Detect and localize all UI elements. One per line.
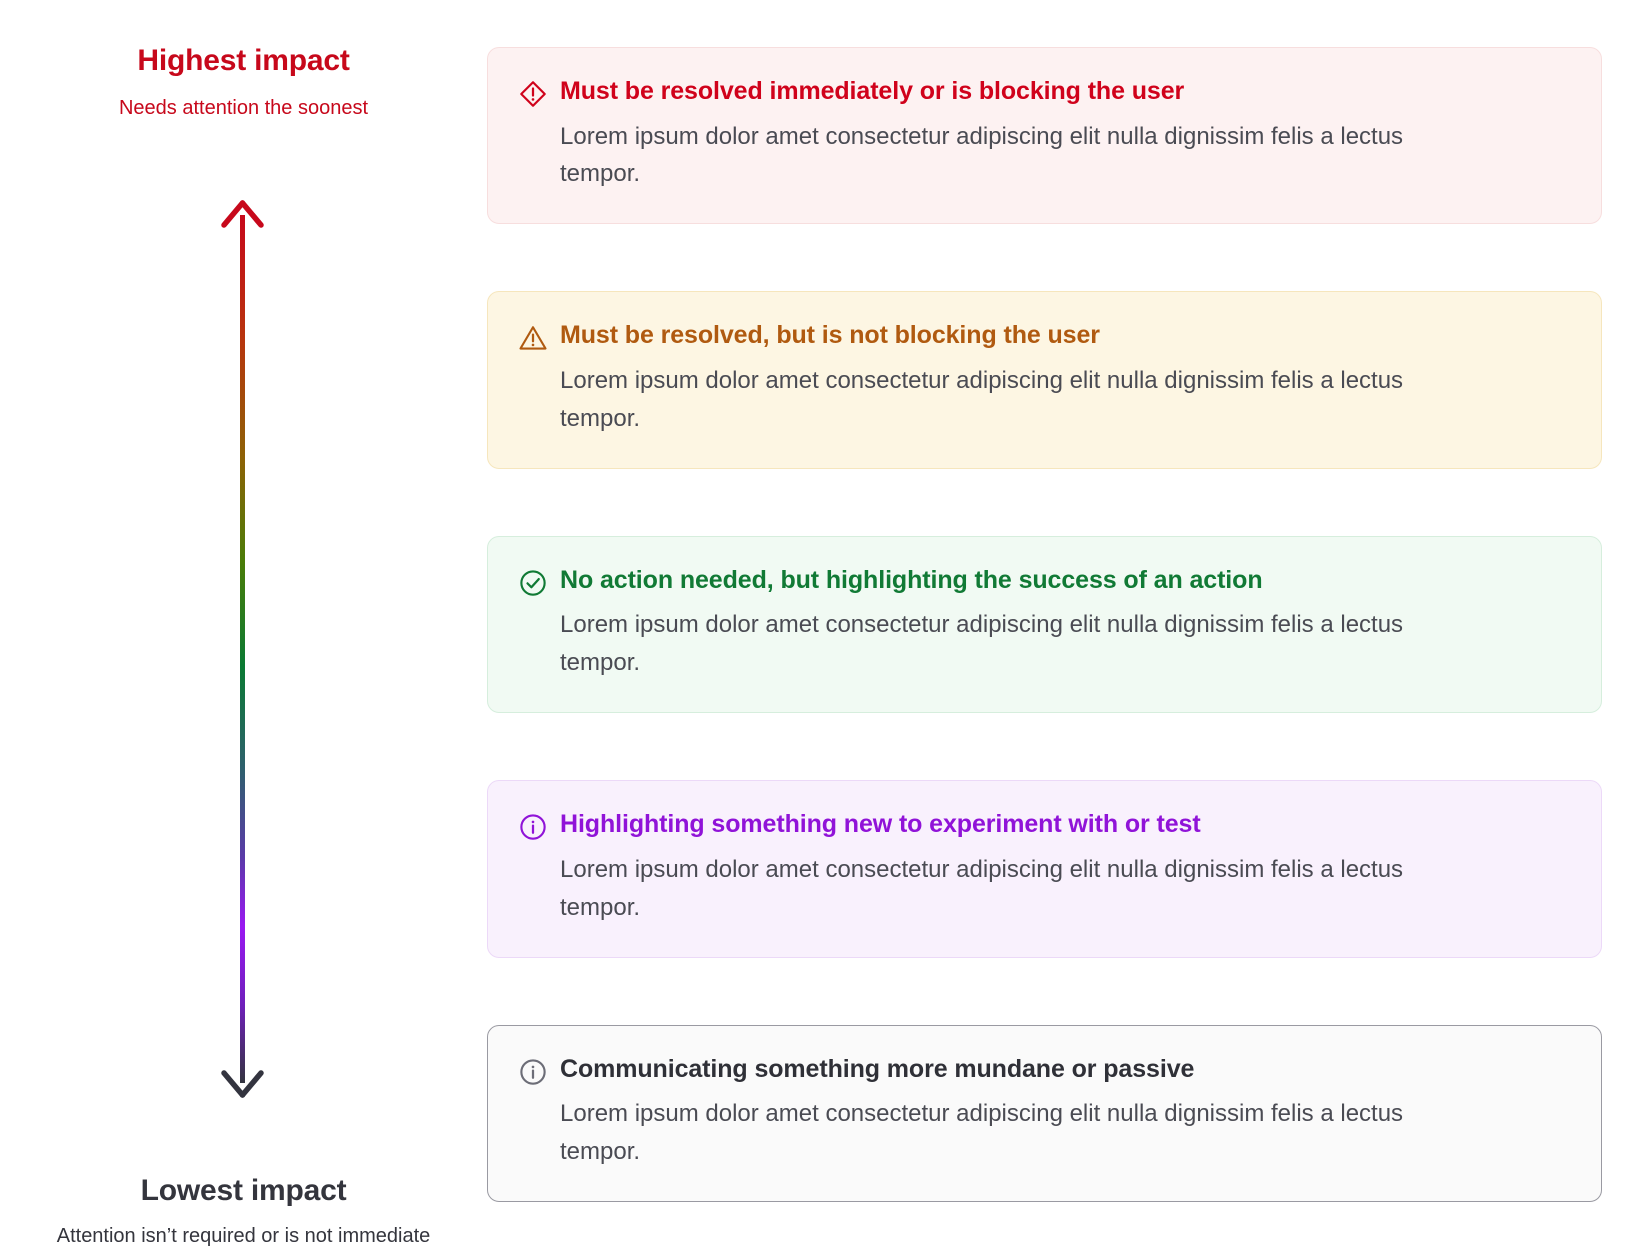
scale-bottom-labels: Lowest impact Attention isn’t required o… bbox=[0, 1174, 487, 1248]
alert-body: Highlighting something new to experiment… bbox=[560, 809, 1571, 926]
info-circle-icon bbox=[518, 1057, 548, 1087]
alert-title: Must be resolved immediately or is block… bbox=[560, 76, 1571, 107]
alert-card-error[interactable]: Must be resolved immediately or is block… bbox=[487, 47, 1602, 224]
alert-icon-wrap bbox=[518, 565, 560, 598]
alert-body: No action needed, but highlighting the s… bbox=[560, 565, 1571, 682]
alert-title: Communicating something more mundane or … bbox=[560, 1054, 1571, 1085]
lowest-impact-subtitle: Attention isn’t required or is not immed… bbox=[0, 1224, 487, 1248]
alert-description: Lorem ipsum dolor amet consectetur adipi… bbox=[560, 851, 1460, 927]
highest-impact-subtitle: Needs attention the soonest bbox=[0, 96, 487, 120]
alert-description: Lorem ipsum dolor amet consectetur adipi… bbox=[560, 1095, 1460, 1171]
scale-top-labels: Highest impact Needs attention the soone… bbox=[0, 0, 487, 120]
alert-card-success[interactable]: No action needed, but highlighting the s… bbox=[487, 536, 1602, 713]
alert-icon-wrap bbox=[518, 320, 560, 353]
alert-body: Must be resolved immediately or is block… bbox=[560, 76, 1571, 193]
alert-title: Highlighting something new to experiment… bbox=[560, 809, 1571, 840]
info-circle-icon bbox=[518, 812, 548, 842]
lowest-impact-title: Lowest impact bbox=[0, 1174, 487, 1209]
alert-description: Lorem ipsum dolor amet consectetur adipi… bbox=[560, 362, 1460, 438]
alert-icon-wrap bbox=[518, 76, 560, 109]
alert-title: Must be resolved, but is not blocking th… bbox=[560, 320, 1571, 351]
alert-title: No action needed, but highlighting the s… bbox=[560, 565, 1571, 596]
gradient-arrow-icon bbox=[214, 199, 274, 1099]
alert-icon-wrap bbox=[518, 1054, 560, 1087]
impact-hierarchy-page: Highest impact Needs attention the soone… bbox=[0, 0, 1652, 1248]
highest-impact-title: Highest impact bbox=[0, 44, 487, 79]
check-circle-icon bbox=[518, 568, 548, 598]
alert-icon-wrap bbox=[518, 809, 560, 842]
diamond-exclamation-icon bbox=[518, 79, 548, 109]
impact-arrow bbox=[0, 120, 487, 1174]
triangle-exclamation-icon bbox=[518, 323, 548, 353]
alert-description: Lorem ipsum dolor amet consectetur adipi… bbox=[560, 606, 1460, 682]
alert-card-warning[interactable]: Must be resolved, but is not blocking th… bbox=[487, 291, 1602, 468]
alert-description: Lorem ipsum dolor amet consectetur adipi… bbox=[560, 118, 1460, 194]
alert-card-neutral[interactable]: Communicating something more mundane or … bbox=[487, 1025, 1602, 1202]
alert-body: Communicating something more mundane or … bbox=[560, 1054, 1571, 1171]
impact-scale: Highest impact Needs attention the soone… bbox=[0, 0, 487, 1248]
alert-card-list: Must be resolved immediately or is block… bbox=[487, 0, 1652, 1248]
alert-card-info[interactable]: Highlighting something new to experiment… bbox=[487, 780, 1602, 957]
alert-body: Must be resolved, but is not blocking th… bbox=[560, 320, 1571, 437]
